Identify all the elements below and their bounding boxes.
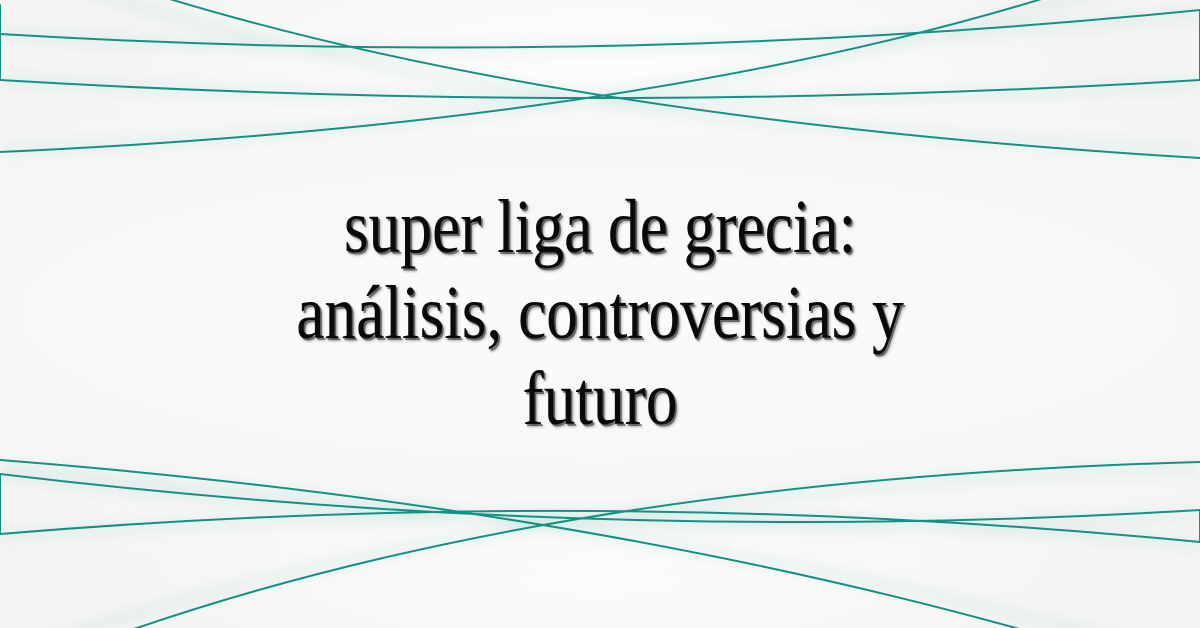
page-title: super liga de grecia: análisis, controve… — [172, 185, 1029, 443]
title-card: super liga de grecia: análisis, controve… — [0, 0, 1200, 628]
title-container: super liga de grecia: análisis, controve… — [0, 0, 1200, 628]
